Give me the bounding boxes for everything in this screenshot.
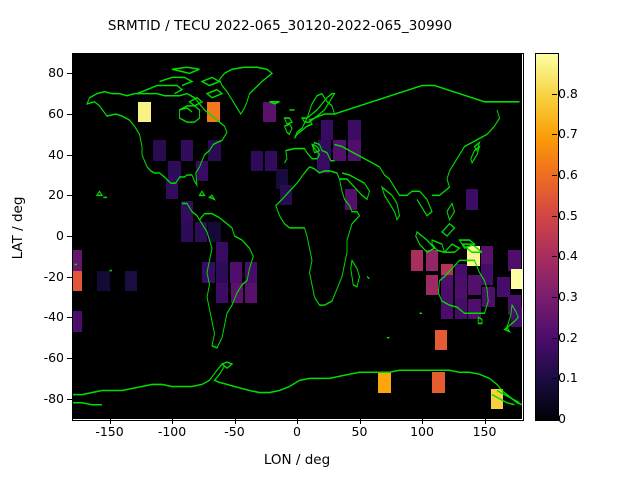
- x-tick-label: -100: [142, 424, 202, 439]
- colorbar-tick-label: 0.6: [558, 167, 598, 182]
- colorbar-tick-mark: [552, 216, 557, 217]
- x-tick-mark: [360, 419, 361, 424]
- colorbar-tick-label: 0.8: [558, 86, 598, 101]
- colorbar-tick-label: 0.4: [558, 248, 598, 263]
- y-tick-mark: [67, 277, 72, 278]
- y-tick-label: -20: [4, 269, 64, 284]
- y-tick-mark: [67, 73, 72, 74]
- colorbar-tick-mark: [552, 134, 557, 135]
- y-tick-mark: [67, 399, 72, 400]
- colorbar[interactable]: [535, 53, 559, 421]
- colorbar-tick-label: 0.3: [558, 289, 598, 304]
- coastline-overlay: [72, 53, 522, 419]
- x-tick-label: 50: [330, 424, 390, 439]
- x-tick-mark: [422, 419, 423, 424]
- colorbar-tick-label: 0.5: [558, 208, 598, 223]
- x-tick-label: 100: [392, 424, 452, 439]
- x-tick-mark: [485, 419, 486, 424]
- y-tick-mark: [67, 114, 72, 115]
- y-tick-mark: [67, 358, 72, 359]
- x-tick-label: -150: [80, 424, 140, 439]
- y-tick-label: -60: [4, 350, 64, 365]
- x-tick-mark: [235, 419, 236, 424]
- y-tick-label: -80: [4, 391, 64, 406]
- y-tick-label: -40: [4, 309, 64, 324]
- colorbar-tick-mark: [552, 256, 557, 257]
- y-tick-label: 20: [4, 187, 64, 202]
- colorbar-tick-label: 0.2: [558, 330, 598, 345]
- x-tick-label: 0: [267, 424, 327, 439]
- x-tick-mark: [297, 419, 298, 424]
- y-tick-label: 40: [4, 147, 64, 162]
- colorbar-tick-mark: [552, 175, 557, 176]
- x-axis-label: LON / deg: [72, 452, 522, 468]
- colorbar-tick-label: 0: [558, 411, 598, 426]
- colorbar-tick-mark: [552, 378, 557, 379]
- y-tick-mark: [67, 317, 72, 318]
- x-tick-label: -50: [205, 424, 265, 439]
- colorbar-tick-mark: [552, 94, 557, 95]
- x-tick-mark: [110, 419, 111, 424]
- colorbar-tick-mark: [552, 419, 557, 420]
- colorbar-tick-label: 0.1: [558, 370, 598, 385]
- x-tick-mark: [172, 419, 173, 424]
- colorbar-tick-label: 0.7: [558, 126, 598, 141]
- y-tick-mark: [67, 155, 72, 156]
- y-tick-label: 80: [4, 65, 64, 80]
- y-tick-label: 60: [4, 106, 64, 121]
- map-plot-area[interactable]: [72, 53, 522, 419]
- chart-title: SRMTID / TECU 2022-065_30120-2022-065_30…: [0, 18, 560, 34]
- figure-canvas: SRMTID / TECU 2022-065_30120-2022-065_30…: [0, 0, 640, 480]
- y-tick-label: 0: [4, 228, 64, 243]
- y-tick-mark: [67, 236, 72, 237]
- colorbar-tick-mark: [552, 338, 557, 339]
- y-tick-mark: [67, 195, 72, 196]
- colorbar-tick-mark: [552, 297, 557, 298]
- x-tick-label: 150: [455, 424, 515, 439]
